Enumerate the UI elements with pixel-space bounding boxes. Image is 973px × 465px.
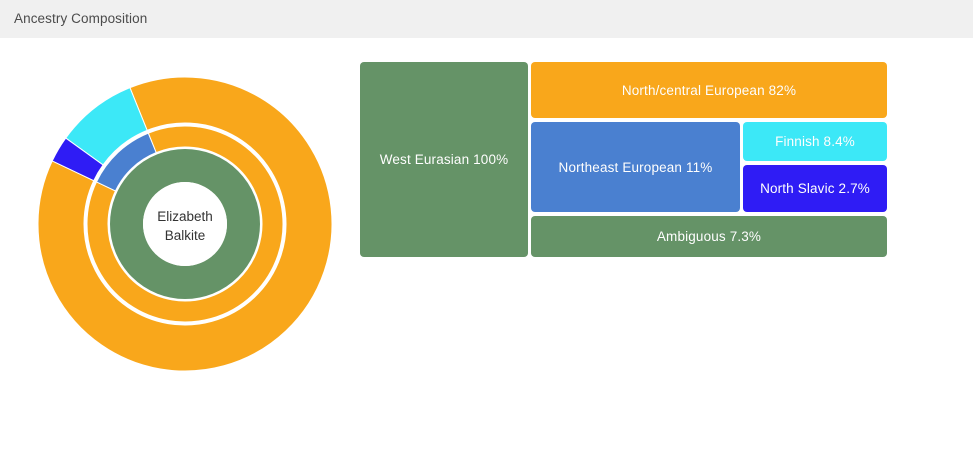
bar-segment-north-slavic[interactable]: North Slavic 2.7% xyxy=(743,165,887,212)
bar-label-ambiguous: Ambiguous 7.3% xyxy=(657,229,761,244)
bar-label-north-central-european: North/central European 82% xyxy=(622,83,796,98)
bar-segment-northeast-european[interactable]: Northeast European 11% xyxy=(531,122,740,212)
panel-header: Ancestry Composition xyxy=(0,0,973,38)
chart-canvas: Elizabeth Balkite West Eurasian 100% Nor… xyxy=(0,38,973,465)
bar-label-west-eurasian: West Eurasian 100% xyxy=(380,152,509,167)
sunburst-center-hub xyxy=(143,182,227,266)
bar-label-north-slavic: North Slavic 2.7% xyxy=(760,181,870,196)
sunburst-svg: Elizabeth Balkite xyxy=(30,64,350,394)
bar-label-finnish: Finnish 8.4% xyxy=(775,134,855,149)
bar-segment-ambiguous[interactable]: Ambiguous 7.3% xyxy=(531,216,887,257)
sunburst-center-name-line1: Elizabeth xyxy=(157,209,213,224)
bar-segment-west-eurasian[interactable]: West Eurasian 100% xyxy=(360,62,528,257)
bar-label-northeast-european: Northeast European 11% xyxy=(559,160,713,175)
bar-segment-finnish[interactable]: Finnish 8.4% xyxy=(743,122,887,161)
bar-segment-north-central-european[interactable]: North/central European 82% xyxy=(531,62,887,118)
ancestry-sunburst-chart: Elizabeth Balkite xyxy=(30,64,350,394)
ancestry-breakdown-bars: West Eurasian 100% North/central Europea… xyxy=(360,62,888,262)
page-title: Ancestry Composition xyxy=(14,11,147,26)
sunburst-center-name-line2: Balkite xyxy=(165,228,206,243)
